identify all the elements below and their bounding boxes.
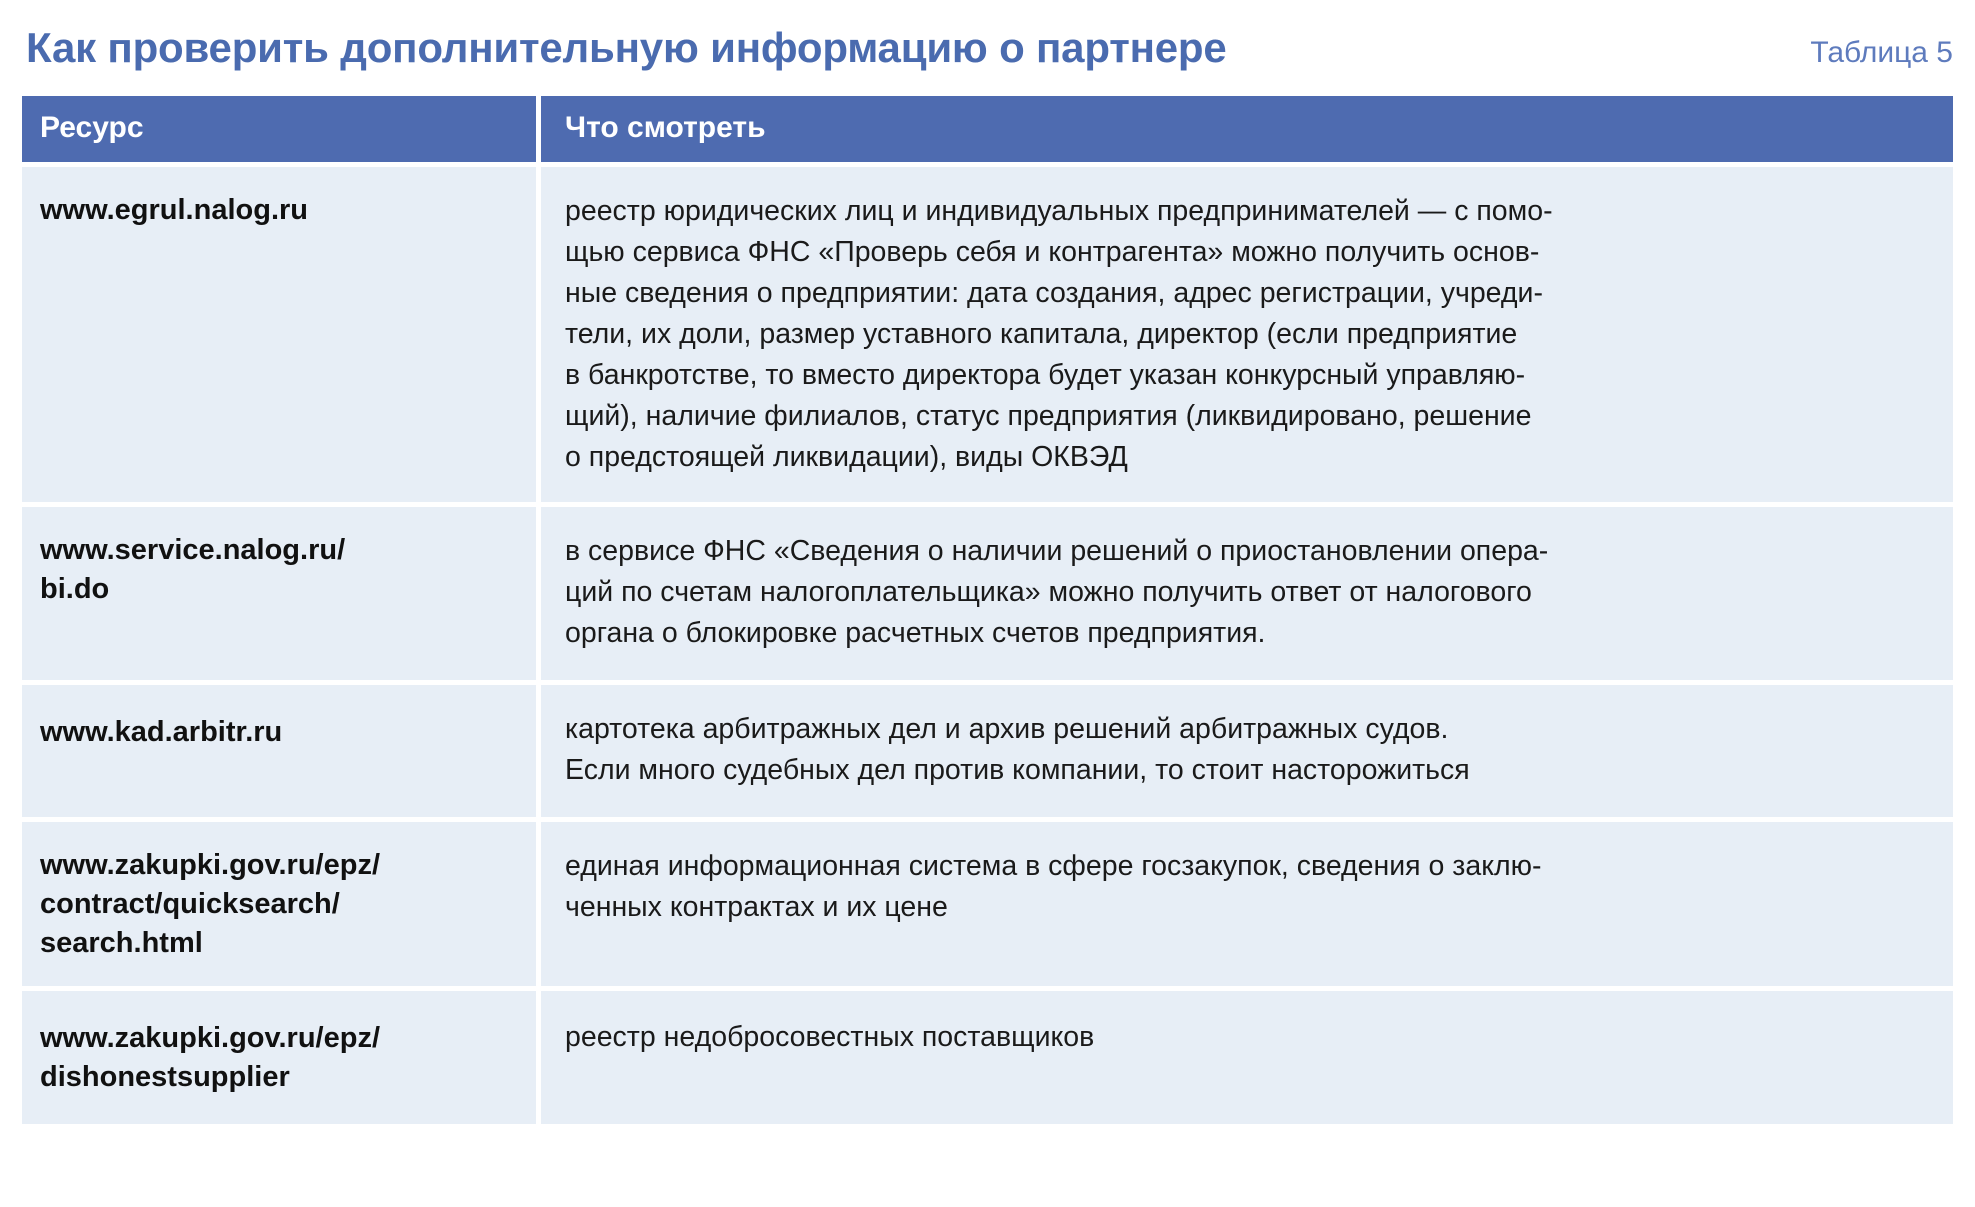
resource-url[interactable]: www.kad.arbitr.ru <box>40 709 518 752</box>
resource-description: в сервисе ФНС «Сведения о наличии решени… <box>565 531 1927 654</box>
table-cell-resource: www.egrul.nalog.ru <box>22 167 536 502</box>
resource-description: реестр юридических лиц и индивидуальных … <box>565 191 1927 478</box>
resource-url[interactable]: www.zakupki.gov.ru/epz/ dishonestsupplie… <box>40 1017 518 1096</box>
table-cell-description: реестр юридических лиц и индивидуальных … <box>541 167 1953 502</box>
table-row: www.zakupki.gov.ru/epz/ contract/quickse… <box>22 822 1953 986</box>
table-cell-resource: www.zakupki.gov.ru/epz/ contract/quickse… <box>22 822 536 986</box>
column-header-what-to-look: Что смотреть <box>565 110 1927 146</box>
table-row: www.egrul.nalog.ru реестр юридических ли… <box>22 167 1953 502</box>
table-cell-description: единая информационная система в сфере го… <box>541 822 1953 986</box>
resource-url[interactable]: www.zakupki.gov.ru/epz/ contract/quickse… <box>40 846 518 962</box>
resource-url[interactable]: www.egrul.nalog.ru <box>40 191 518 230</box>
table-row: www.kad.arbitr.ru картотека арбитражных … <box>22 685 1953 817</box>
resource-description: реестр недобросовестных поставщиков <box>565 1017 1927 1058</box>
table-header-cell-what-to-look: Что смотреть <box>541 96 1953 162</box>
table-cell-description: картотека арбитражных дел и архив решени… <box>541 685 1953 817</box>
column-header-resource: Ресурс <box>40 110 518 146</box>
table-cell-resource: www.kad.arbitr.ru <box>22 685 536 817</box>
partner-check-table: Ресурс Что смотреть www.egrul.nalog.ru р… <box>22 96 1953 1124</box>
page-title: Как проверить дополнительную информацию … <box>26 0 1227 96</box>
resource-description: единая информационная система в сфере го… <box>565 846 1927 928</box>
resource-url[interactable]: www.service.nalog.ru/ bi.do <box>40 531 518 608</box>
document-header: Как проверить дополнительную информацию … <box>0 0 1975 96</box>
resource-description: картотека арбитражных дел и архив решени… <box>565 709 1927 791</box>
table-row: www.zakupki.gov.ru/epz/ dishonestsupplie… <box>22 991 1953 1124</box>
table-cell-resource: www.zakupki.gov.ru/epz/ dishonestsupplie… <box>22 991 536 1124</box>
table-cell-resource: www.service.nalog.ru/ bi.do <box>22 507 536 680</box>
table-header-row: Ресурс Что смотреть <box>22 96 1953 162</box>
table-cell-description: в сервисе ФНС «Сведения о наличии решени… <box>541 507 1953 680</box>
table-number-label: Таблица 5 <box>1810 5 1953 101</box>
document-page: Как проверить дополнительную информацию … <box>0 0 1975 1207</box>
table-row: www.service.nalog.ru/ bi.do в сервисе ФН… <box>22 507 1953 680</box>
table-header-cell-resource: Ресурс <box>22 96 536 162</box>
table-cell-description: реестр недобросовестных поставщиков <box>541 991 1953 1124</box>
